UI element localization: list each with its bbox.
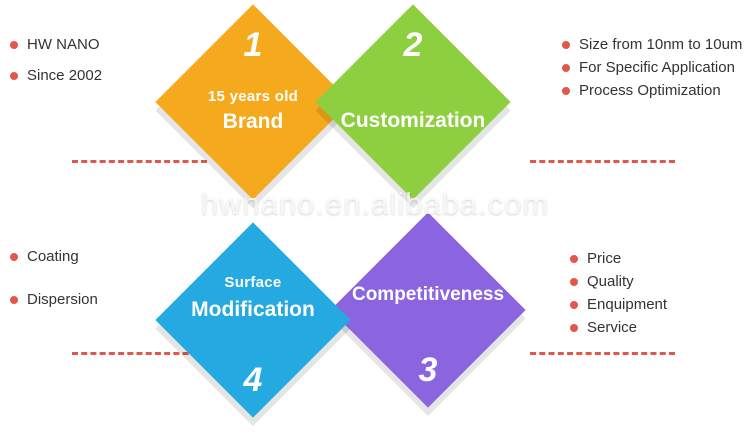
list-item: Service xyxy=(570,319,667,336)
divider-bottom-right xyxy=(530,352,675,355)
list-item-label: Dispersion xyxy=(27,291,98,308)
bullet-dot-icon xyxy=(10,41,18,49)
diamond-3-shape xyxy=(330,212,525,407)
list-item-label: For Specific Application xyxy=(579,59,735,76)
diamond-3[interactable]: Competitiveness 3 xyxy=(330,212,526,408)
bullet-dot-icon xyxy=(570,278,578,286)
bullet-dot-icon xyxy=(10,72,18,80)
bullet-list-bottom-left: Coating Dispersion xyxy=(10,248,98,322)
bullet-dot-icon xyxy=(10,253,18,261)
list-item-label: Coating xyxy=(27,248,79,265)
list-item: Since 2002 xyxy=(10,67,102,84)
list-item: Size from 10nm to 10um xyxy=(562,36,742,53)
list-item: HW NANO xyxy=(10,36,102,53)
bullet-dot-icon xyxy=(570,324,578,332)
list-item: Price xyxy=(570,250,667,267)
list-item: Coating xyxy=(10,248,98,265)
divider-top-right xyxy=(530,160,675,163)
list-item-label: Process Optimization xyxy=(579,82,721,99)
diamond-4[interactable]: Surface Modification 4 xyxy=(155,222,351,418)
bullet-dot-icon xyxy=(570,255,578,263)
diagram-canvas: 1 15 years old Brand 2 Customization Com… xyxy=(0,0,750,434)
list-item-label: Quality xyxy=(587,273,634,290)
bullet-dot-icon xyxy=(10,296,18,304)
bullet-dot-icon xyxy=(562,87,570,95)
list-item-label: Since 2002 xyxy=(27,67,102,84)
diamond-2[interactable]: 2 Customization xyxy=(315,4,511,200)
bullet-list-top-right: Size from 10nm to 10um For Specific Appl… xyxy=(562,36,742,105)
bullet-list-top-left: HW NANO Since 2002 xyxy=(10,36,102,98)
bullet-dot-icon xyxy=(570,301,578,309)
diamond-2-shape xyxy=(315,4,510,199)
list-item: Dispersion xyxy=(10,291,98,308)
list-item: For Specific Application xyxy=(562,59,742,76)
bullet-list-bottom-right: Price Quality Enquipment Service xyxy=(570,250,667,342)
list-item-label: Service xyxy=(587,319,637,336)
list-item: Quality xyxy=(570,273,667,290)
list-item-label: HW NANO xyxy=(27,36,100,53)
bullet-dot-icon xyxy=(562,64,570,72)
list-item-label: Enquipment xyxy=(587,296,667,313)
bullet-dot-icon xyxy=(562,41,570,49)
list-item: Enquipment xyxy=(570,296,667,313)
list-item-label: Size from 10nm to 10um xyxy=(579,36,742,53)
list-item: Process Optimization xyxy=(562,82,742,99)
list-item-label: Price xyxy=(587,250,621,267)
diamond-4-shape xyxy=(155,222,350,417)
